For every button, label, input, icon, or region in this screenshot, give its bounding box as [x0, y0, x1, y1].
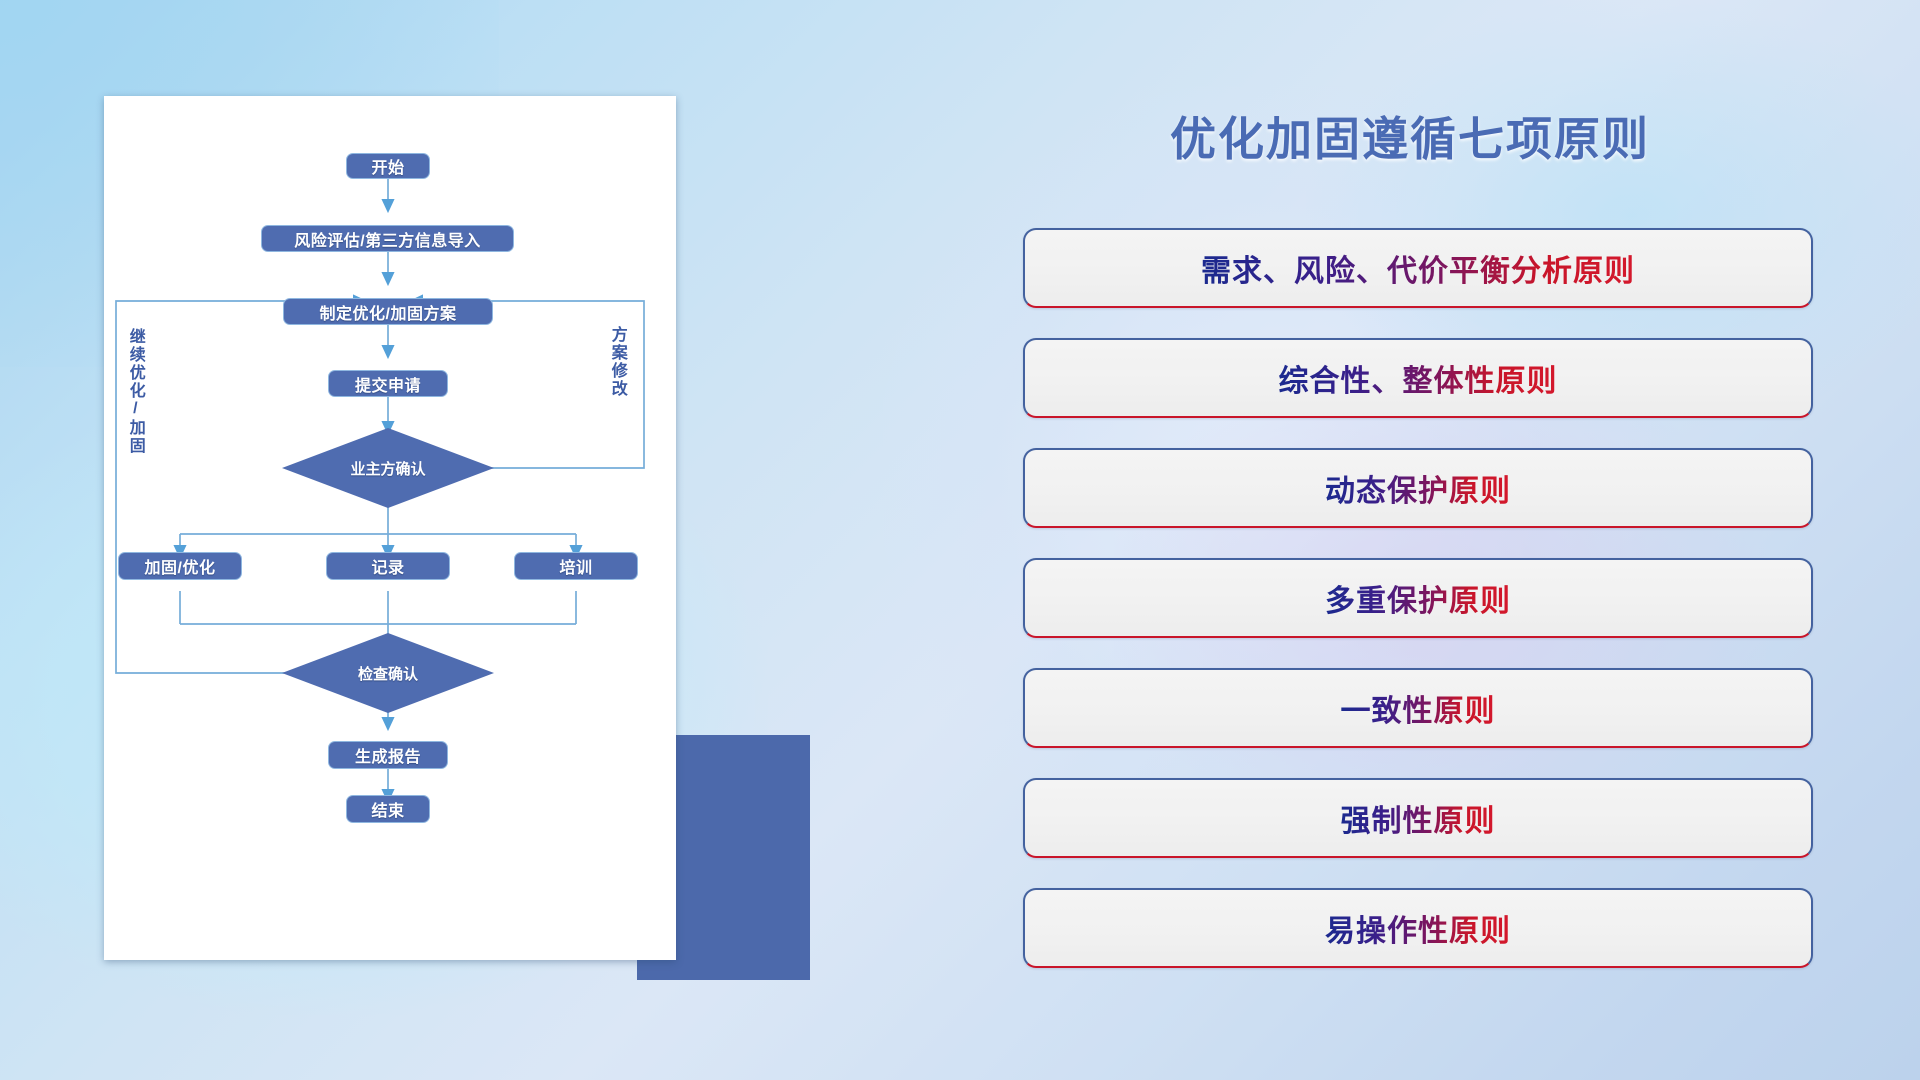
flow-node-label: 制定优化/加固方案: [320, 300, 457, 324]
flow-node-label: 开始: [371, 154, 404, 178]
flow-edge-label-continue-optimize: 继续优化/加固: [126, 328, 143, 455]
flow-node-label: 检查确认: [358, 663, 418, 684]
flow-node-label: 结束: [371, 797, 404, 821]
principle-card[interactable]: 多重保护原则: [1023, 558, 1813, 638]
principle-label: 综合性、整体性原则: [1279, 356, 1558, 400]
principle-card[interactable]: 需求、风险、代价平衡分析原则: [1023, 228, 1813, 308]
flow-node-training[interactable]: 培训: [514, 552, 638, 580]
flow-node-risk-assessment[interactable]: 风险评估/第三方信息导入: [261, 225, 514, 252]
flow-node-label: 生成报告: [355, 743, 421, 767]
principle-label: 动态保护原则: [1325, 466, 1511, 510]
flow-node-reinforce-optimize[interactable]: 加固/优化: [118, 552, 242, 580]
principles-list: 需求、风险、代价平衡分析原则 综合性、整体性原则 动态保护原则 多重保护原则 一…: [1023, 228, 1813, 968]
flow-node-end[interactable]: 结束: [346, 795, 430, 823]
flowchart-panel: 开始 风险评估/第三方信息导入 制定优化/加固方案 提交申请 业主方确认 加固/…: [0, 0, 900, 1080]
flow-node-label: 业主方确认: [350, 458, 425, 479]
principle-label: 需求、风险、代价平衡分析原则: [1201, 246, 1635, 290]
flow-edge-label-plan-revision: 方案修改: [608, 326, 625, 398]
principle-card[interactable]: 一致性原则: [1023, 668, 1813, 748]
principle-label: 多重保护原则: [1325, 576, 1511, 620]
principle-card[interactable]: 强制性原则: [1023, 778, 1813, 858]
flow-node-make-plan[interactable]: 制定优化/加固方案: [283, 298, 493, 325]
flow-node-label: 加固/优化: [145, 554, 216, 578]
principle-label: 易操作性原则: [1325, 906, 1511, 950]
principle-card[interactable]: 易操作性原则: [1023, 888, 1813, 968]
flow-node-generate-report[interactable]: 生成报告: [328, 741, 448, 769]
flow-node-label: 记录: [371, 554, 404, 578]
flow-node-submit-application[interactable]: 提交申请: [328, 370, 448, 397]
principle-label: 一致性原则: [1341, 686, 1496, 730]
flow-node-label: 风险评估/第三方信息导入: [294, 227, 480, 251]
principles-panel: 优化加固遵循七项原则 需求、风险、代价平衡分析原则 综合性、整体性原则 动态保护…: [900, 0, 1920, 1080]
flowchart-card: 开始 风险评估/第三方信息导入 制定优化/加固方案 提交申请 业主方确认 加固/…: [104, 96, 676, 960]
flow-node-label: 培训: [559, 554, 592, 578]
principle-label: 强制性原则: [1341, 796, 1496, 840]
flow-node-record[interactable]: 记录: [326, 552, 450, 580]
flow-node-label: 提交申请: [355, 372, 421, 396]
principle-card[interactable]: 综合性、整体性原则: [1023, 338, 1813, 418]
flow-node-start[interactable]: 开始: [346, 153, 430, 179]
page-title: 优化加固遵循七项原则: [900, 103, 1920, 169]
principle-card[interactable]: 动态保护原则: [1023, 448, 1813, 528]
